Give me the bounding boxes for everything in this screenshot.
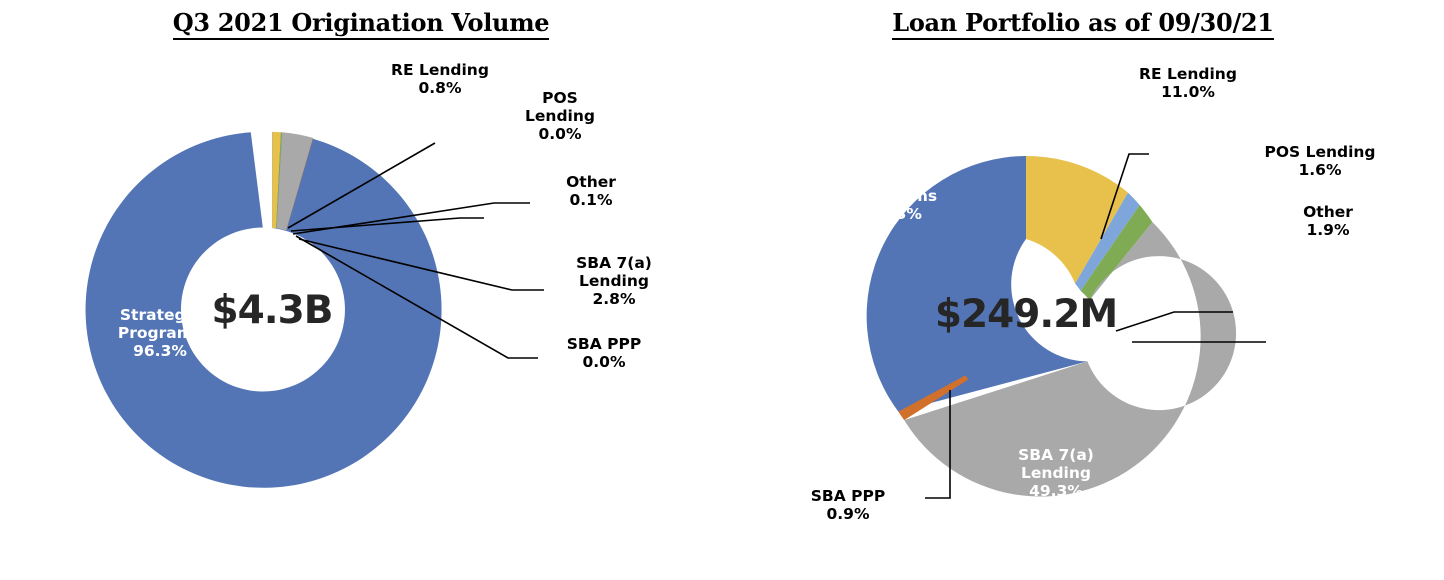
label-sba-7a-line2: Lending	[1021, 464, 1091, 482]
label-sba-7a-left: SBA 7(a) Lending 2.8%	[544, 255, 684, 309]
label-sba-7a-line1: SBA 7(a)	[1018, 446, 1094, 464]
label-pos-lending-line1: POS	[542, 89, 578, 107]
label-pos-lending-pct: 0.0%	[490, 126, 630, 144]
label-strategic-pct: 96.3%	[95, 343, 225, 361]
label-pos-lending-pct: 1.6%	[1230, 162, 1410, 180]
label-sba-7a-pct: 49.3%	[986, 483, 1126, 501]
label-sba-ppp-name: SBA PPP	[811, 487, 885, 505]
label-other-pct: 0.1%	[536, 192, 646, 210]
label-strategic-pct: 35.3%	[830, 206, 960, 224]
label-re-lending-pct: 11.0%	[1108, 84, 1268, 102]
label-sba-ppp-pct: 0.0%	[534, 354, 674, 372]
label-other-pct: 1.9%	[1268, 222, 1388, 240]
label-re-lending-name: RE Lending	[391, 61, 489, 79]
chart-panel-origination-volume: Q3 2021 Origination Volume $4.3B Strateg…	[0, 0, 722, 580]
label-sba-ppp-pct: 0.9%	[768, 506, 928, 524]
label-pos-lending-left: POS Lending 0.0%	[490, 90, 630, 144]
label-strategic-line1: Strategic	[120, 306, 200, 324]
center-total-left-text: $4.3B	[212, 288, 333, 333]
label-strategic-programs-left: Strategic Programs 96.3%	[95, 307, 225, 361]
label-other-right: Other 1.9%	[1268, 204, 1388, 240]
label-other-name: Other	[1303, 203, 1353, 221]
label-pos-lending-right: POS Lending 1.6%	[1230, 144, 1410, 180]
label-sba-7a-line1: SBA 7(a)	[576, 254, 652, 272]
label-pos-lending-line2: Lending	[525, 107, 595, 125]
chart-panel-loan-portfolio: Loan Portfolio as of 09/30/21 $249.2M St…	[722, 0, 1444, 580]
center-total-right: $249.2M	[926, 292, 1126, 337]
label-sba-7a-right: SBA 7(a) Lending 49.3%	[986, 447, 1126, 501]
label-sba-ppp-name: SBA PPP	[567, 335, 641, 353]
label-other-left: Other 0.1%	[536, 174, 646, 210]
label-re-lending-right: RE Lending 11.0%	[1108, 66, 1268, 102]
label-strategic-line1: Strategic	[855, 169, 935, 187]
label-re-lending-name: RE Lending	[1139, 65, 1237, 83]
label-other-name: Other	[566, 173, 616, 191]
label-sba-ppp-left: SBA PPP 0.0%	[534, 336, 674, 372]
label-strategic-line2: Programs	[118, 324, 202, 342]
label-pos-lending-name: POS Lending	[1264, 143, 1375, 161]
center-total-right-text: $249.2M	[935, 292, 1117, 337]
label-strategic-line2: Programs	[853, 187, 937, 205]
label-sba-7a-line2: Lending	[579, 272, 649, 290]
label-sba-7a-pct: 2.8%	[544, 291, 684, 309]
label-strategic-programs-right: Strategic Programs 35.3%	[830, 170, 960, 224]
label-sba-ppp-right: SBA PPP 0.9%	[768, 488, 928, 524]
